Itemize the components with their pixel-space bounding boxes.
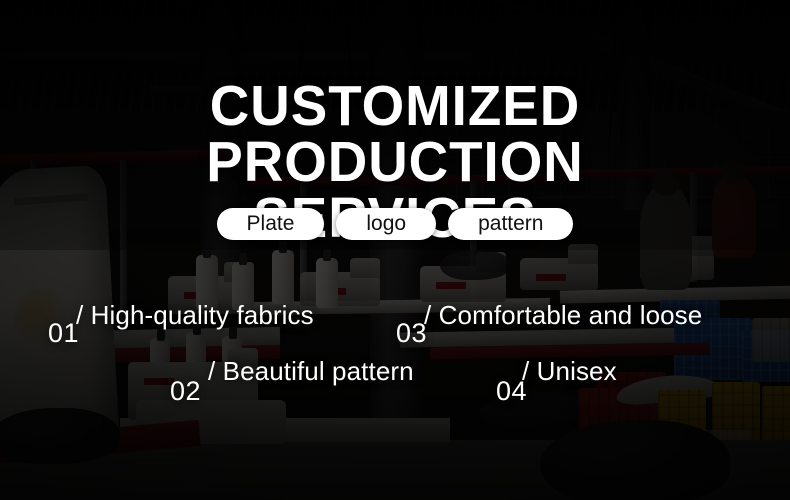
- promo-banner: CUSTOMIZED PRODUCTION SERVICES Plate log…: [0, 0, 790, 500]
- feature-label-04: / Unisex: [522, 356, 617, 387]
- feature-number-03: 03: [396, 318, 427, 349]
- feature-item-03: 03 / Comfortable and loose: [396, 300, 702, 331]
- feature-item-01: 01 / High-quality fabrics: [48, 300, 314, 331]
- feature-item-04: 04 / Unisex: [496, 356, 617, 387]
- feature-label-01: / High-quality fabrics: [76, 300, 314, 331]
- feature-number-01: 01: [48, 318, 79, 349]
- banner-content: CUSTOMIZED PRODUCTION SERVICES Plate log…: [0, 0, 790, 500]
- feature-number-04: 04: [496, 376, 527, 407]
- tag-logo[interactable]: logo: [336, 208, 436, 240]
- tag-plate[interactable]: Plate: [217, 208, 325, 240]
- feature-item-02: 02 / Beautiful pattern: [170, 356, 414, 387]
- feature-label-02: / Beautiful pattern: [208, 356, 414, 387]
- tag-list: Plate logo pattern: [0, 208, 790, 240]
- tag-pattern[interactable]: pattern: [448, 208, 573, 240]
- feature-label-03: / Comfortable and loose: [424, 300, 702, 331]
- feature-number-02: 02: [170, 376, 201, 407]
